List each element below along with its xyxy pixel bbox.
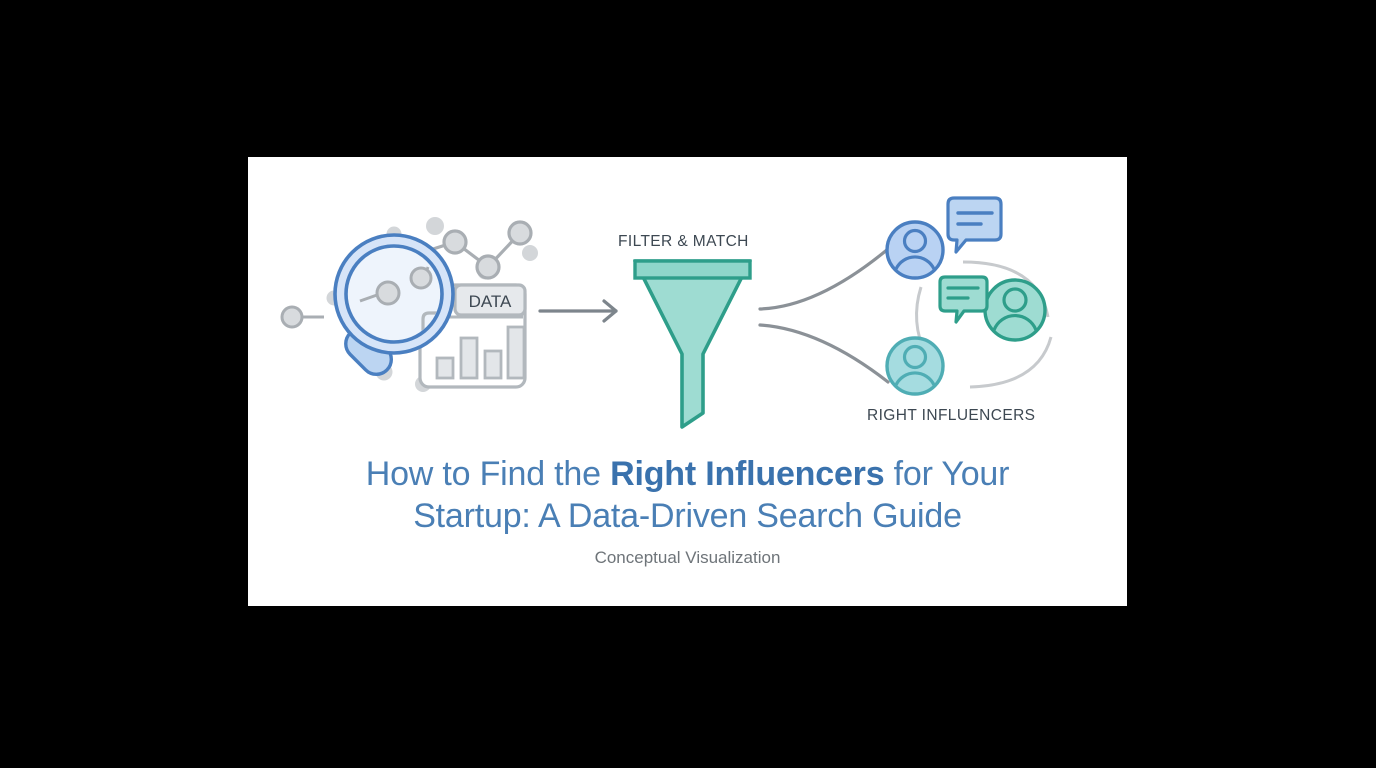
satellite-node-left (282, 307, 324, 327)
data-card-label: DATA (469, 292, 512, 311)
title-block: How to Find the Right Influencers for Yo… (248, 453, 1127, 568)
funnel-icon (635, 261, 750, 427)
page-subtitle: Conceptual Visualization (248, 548, 1127, 568)
influencer-network-group (887, 198, 1051, 394)
arrow-right-icon (540, 301, 616, 321)
avatar-teal (887, 338, 943, 394)
title-part-1: How to Find the (366, 455, 610, 493)
page-title: How to Find the Right Influencers for Yo… (248, 453, 1127, 537)
avatar-blue (887, 222, 943, 278)
title-emphasis: Right Influencers (610, 455, 884, 493)
screenshot-stage: DATA (0, 0, 1376, 768)
orbit-arc-bottom (970, 337, 1051, 387)
stage-label-filter-match: FILTER & MATCH (618, 233, 749, 251)
stage-label-right-influencers: RIGHT INFLUENCERS (867, 407, 1035, 425)
slide-card: DATA (248, 157, 1127, 606)
conceptual-diagram: DATA (248, 157, 1127, 447)
avatar-green (985, 280, 1045, 340)
speech-bubble-teal (940, 277, 987, 322)
speech-bubble-blue (948, 198, 1001, 252)
network-nodes (444, 222, 531, 278)
fan-connector-lines (760, 249, 888, 382)
